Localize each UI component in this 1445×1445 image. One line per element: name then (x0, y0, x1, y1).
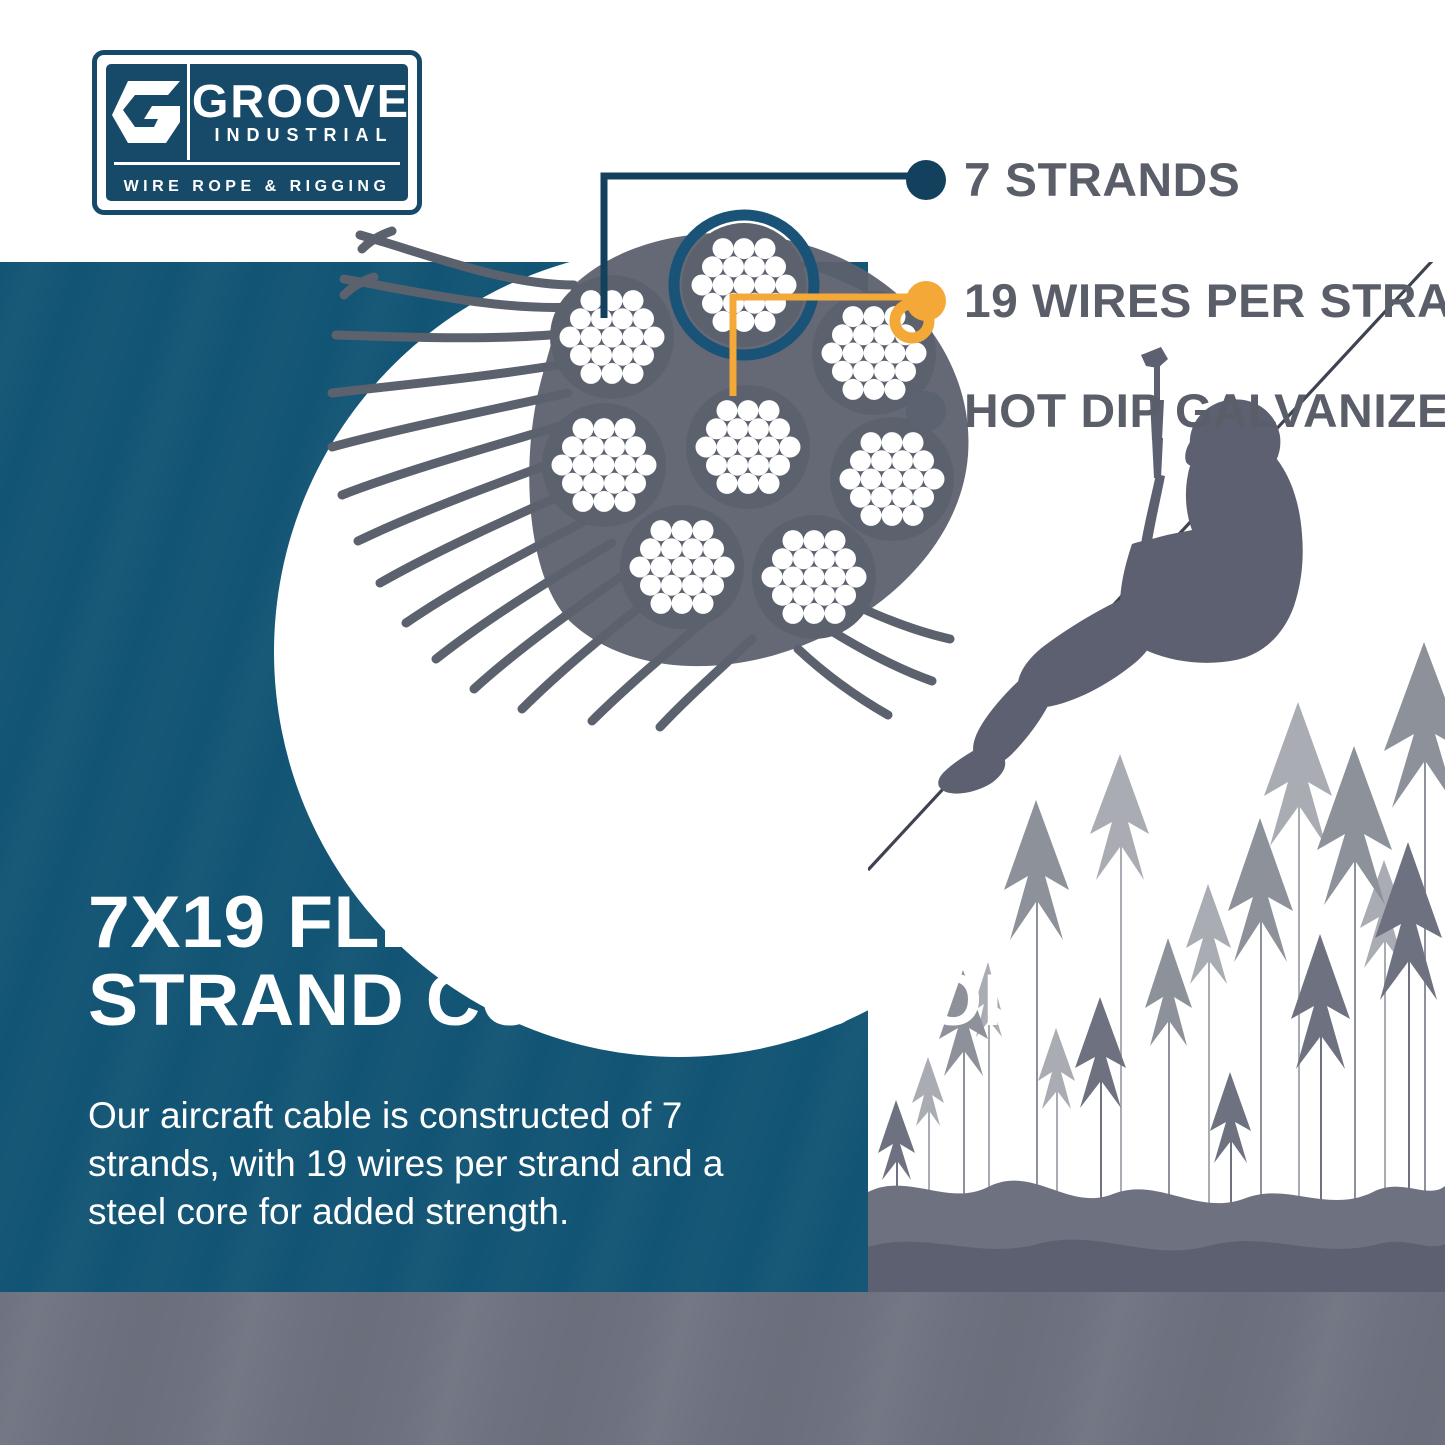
logo-brand-name: GROOVE (192, 79, 410, 123)
callout-galvanized[interactable]: HOT DIP GALVANIZED (906, 387, 1445, 434)
strand-5 (830, 417, 954, 541)
page-title: 7X19 FLEXIBLE STRAND CONSTRUCTION (88, 884, 848, 1040)
logo-inner-plate: GROOVE INDUSTRIAL WIRE ROPE & RIGGING (106, 64, 408, 201)
headline-line-1: 7X19 FLEXIBLE (88, 884, 871, 962)
logo-brand-subname: INDUSTRIAL (209, 125, 394, 145)
strand-7-highlighted (682, 223, 806, 347)
callout-label: 7 STRANDS (964, 156, 1240, 203)
logo-divider (114, 162, 400, 165)
logo-top-row: GROOVE INDUSTRIAL (106, 64, 408, 160)
callout-wires[interactable]: 19 WIRES PER STRAND (906, 277, 1445, 324)
callout-strands[interactable]: 7 STRANDS (906, 156, 1235, 203)
g-hexagon-icon (108, 77, 186, 147)
logo-tagline: WIRE ROPE & RIGGING (124, 178, 391, 196)
strand-3 (620, 505, 744, 629)
strand-core (686, 385, 810, 509)
headline-line-2: STRAND CONSTRUCTION (88, 962, 871, 1040)
callout-dot-icon (906, 281, 946, 321)
groove-g-mark-icon (106, 64, 190, 160)
callout-label: 19 WIRES PER STRAND (964, 277, 1445, 324)
infographic-canvas: 7 STRANDS 19 WIRES PER STRAND HOT DIP GA… (0, 0, 1445, 1445)
callout-dot-icon (906, 160, 946, 200)
callout-dot-icon (906, 391, 946, 431)
strand-1 (550, 275, 674, 399)
bottom-stripe-texture (0, 1292, 1445, 1445)
brand-logo[interactable]: GROOVE INDUSTRIAL WIRE ROPE & RIGGING (92, 50, 422, 215)
body-copy: Our aircraft cable is constructed of 7 s… (88, 1092, 748, 1236)
callout-label: HOT DIP GALVANIZED (964, 387, 1445, 434)
logo-wordmark: GROOVE INDUSTRIAL (190, 64, 408, 160)
strand-4 (752, 515, 876, 639)
strand-2 (542, 403, 666, 527)
bottom-gray-band (0, 1292, 1445, 1445)
logo-tagline-row: WIRE ROPE & RIGGING (106, 168, 408, 206)
